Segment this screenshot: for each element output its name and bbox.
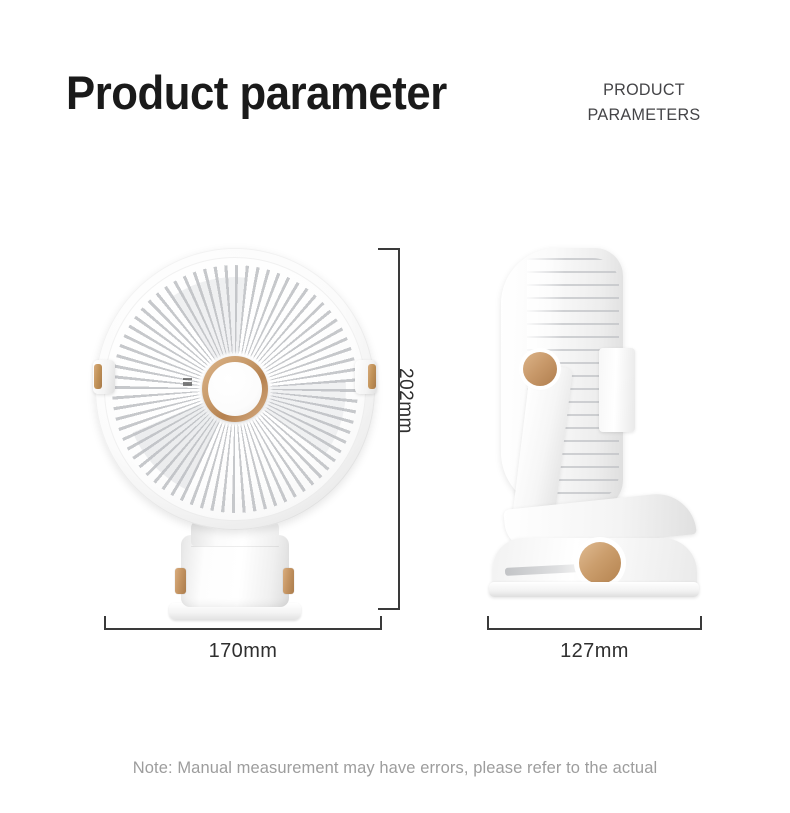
front-width-dimension-line [104,628,382,630]
side-pivot-gold-disc [523,352,557,386]
front-base-gold-accent-left [175,568,186,594]
height-dimension-tick-bottom [378,608,400,610]
page-subtitle: PRODUCT PARAMETERS [559,78,730,127]
front-pivot-gold-left [94,364,102,389]
product-front-view [85,248,385,620]
side-motor-housing [599,348,635,432]
page-title: Product parameter [66,68,447,117]
front-pivot-right [355,360,377,394]
front-logo-badge [183,378,192,386]
front-width-dimension-label: 170mm [104,640,382,663]
side-clip-gold-disc [579,542,621,584]
front-width-tick-right [380,616,382,630]
side-depth-dimension-line [487,628,702,630]
front-pivot-left [93,360,115,394]
subtitle-line-2: PARAMETERS [559,103,730,128]
front-width-tick-left [104,616,106,630]
side-depth-dimension-label: 127mm [487,640,702,663]
front-pivot-gold-right [368,364,376,389]
height-dimension-tick-top [378,248,400,250]
side-clip-foot [489,582,699,597]
front-fan-head [95,248,375,530]
front-grille-outer-ring [95,248,375,530]
front-base-gold-accent-right [283,568,294,594]
side-depth-tick-left [487,616,489,630]
measurement-disclaimer: Note: Manual measurement may have errors… [12,758,778,778]
product-side-view [487,248,703,620]
subtitle-line-1: PRODUCT [559,78,730,103]
side-depth-tick-right [700,616,702,630]
height-dimension-label: 202mm [394,368,416,434]
front-hub-gold-ring [202,356,268,422]
